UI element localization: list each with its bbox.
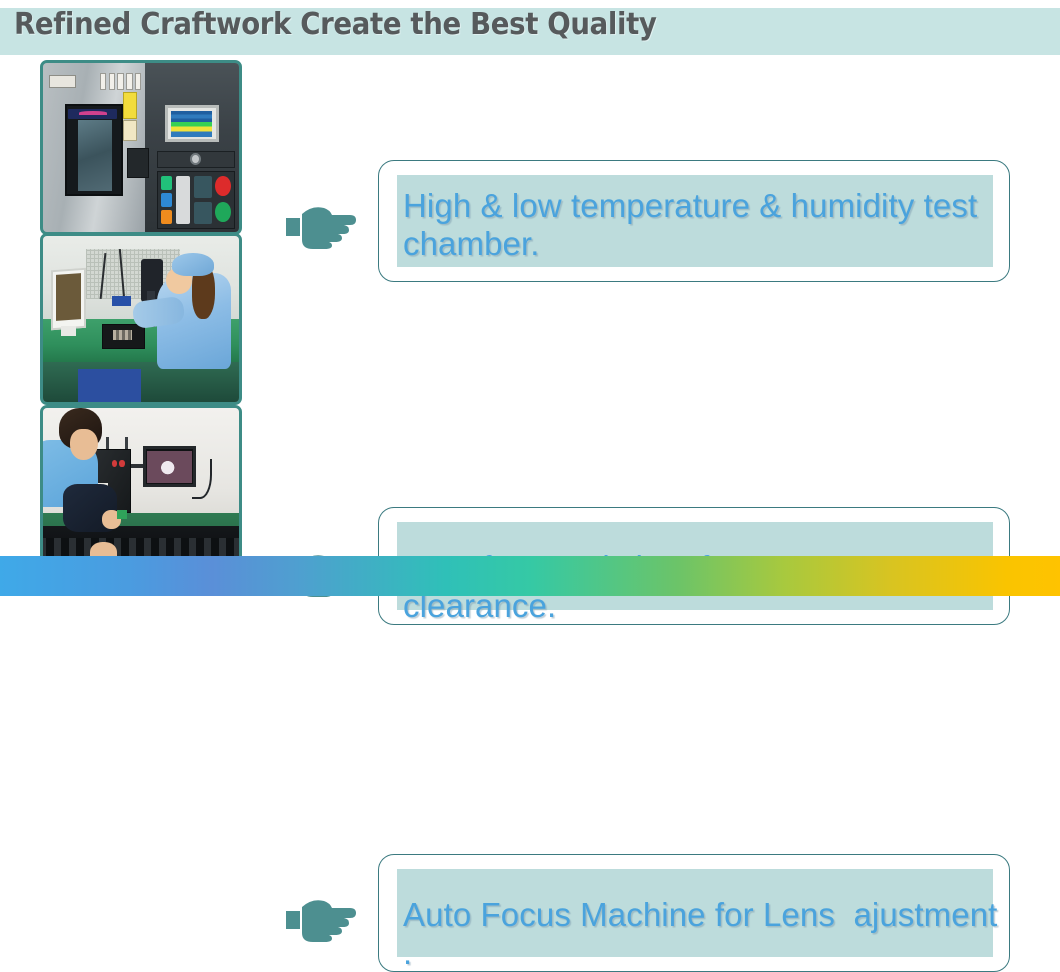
- callout-text-3: Auto Focus Machine for Lens ajustment .: [403, 896, 999, 972]
- photo-dust-free-workshop[interactable]: [40, 233, 242, 405]
- footer-gradient-bar: [0, 556, 1060, 596]
- photo-dust-free-workshop-artwork: [43, 236, 239, 402]
- photo-test-chamber-artwork: [43, 63, 239, 232]
- content-row-3: Auto Focus Machine for Lens ajustment .: [0, 405, 1060, 570]
- photo-test-chamber[interactable]: [40, 60, 242, 235]
- content-row-2: Dust-free workshop for sensor clearance.: [0, 233, 1060, 405]
- photo-auto-focus-machine-artwork: [43, 408, 239, 567]
- pointing-hand-right-icon: [286, 897, 356, 943]
- callout-box-3[interactable]: Auto Focus Machine for Lens ajustment .: [378, 854, 1010, 972]
- page-title: Refined Craftwork Create the Best Qualit…: [14, 7, 657, 42]
- photo-auto-focus-machine[interactable]: [40, 405, 242, 570]
- content-row-1: High & low temperature & humidity test c…: [0, 60, 1060, 235]
